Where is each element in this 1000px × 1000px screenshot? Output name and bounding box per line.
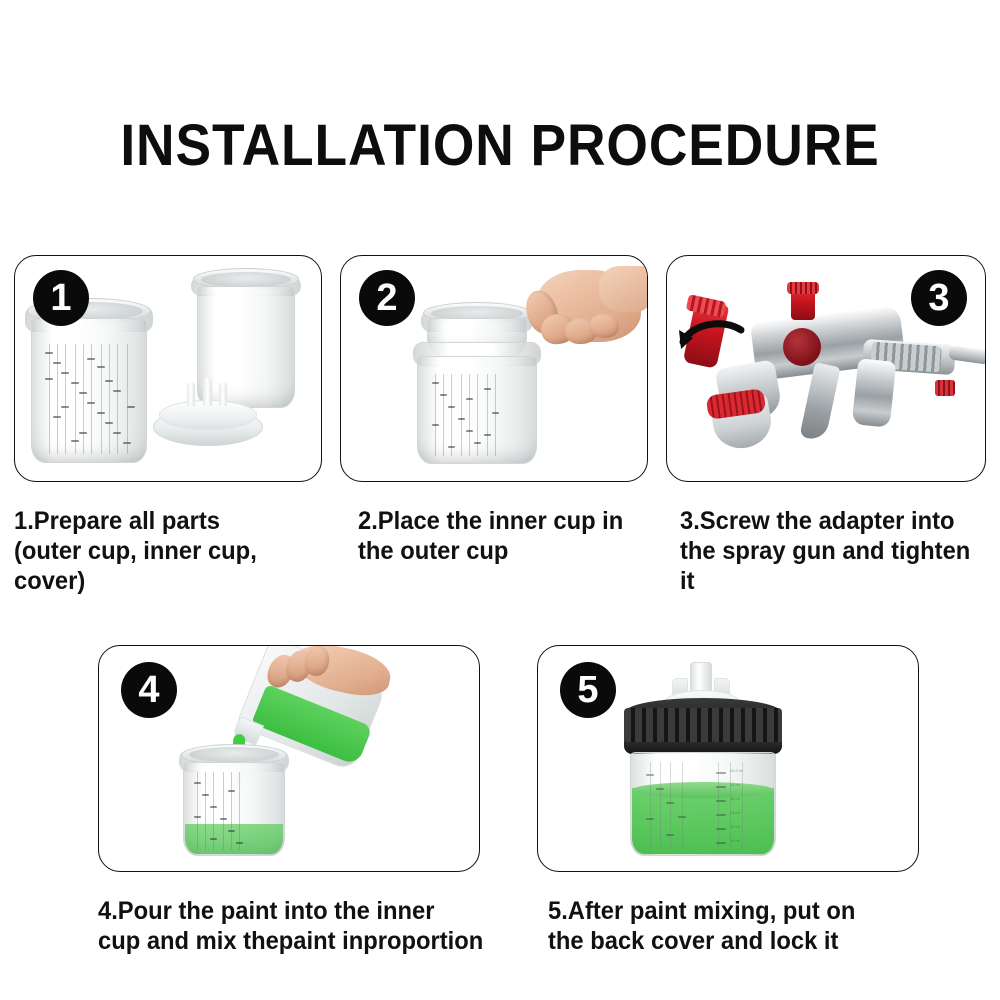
step-caption-4: 4.Pour the paint into the inner cup and …: [98, 896, 497, 956]
step-badge-4: 4: [121, 662, 177, 718]
step-panel-5: 28.3 ml 18 ml 16 ml 14 ml 12 ml 10 ml 5: [537, 645, 919, 872]
cup-graduations-5: 28.3 ml 18 ml 16 ml 14 ml 12 ml 10 ml: [642, 762, 762, 850]
cup-graduations-4: [191, 772, 251, 850]
step-caption-5: 5.After paint mixing, put on the back co…: [548, 896, 919, 956]
step-panel-2: 2: [340, 255, 648, 482]
cup-graduations-2: [429, 374, 501, 456]
step-badge-1: 1: [33, 270, 89, 326]
cup-graduations-1: [41, 344, 137, 454]
rotation-arrow-icon: [677, 308, 749, 360]
step-caption-2: 2.Place the inner cup in the outer cup: [358, 506, 643, 566]
infographic-page: INSTALLATION PROCEDURE: [0, 0, 1000, 1000]
step-badge-5: 5: [560, 662, 616, 718]
page-title: INSTALLATION PROCEDURE: [40, 112, 960, 179]
step-caption-1: 1.Prepare all parts (outer cup, inner cu…: [14, 506, 328, 596]
step-caption-3: 3.Screw the adapter into the spray gun a…: [680, 506, 984, 596]
step-badge-3: 3: [911, 270, 967, 326]
step-panel-4: 4: [98, 645, 480, 872]
step-panel-1: 1: [14, 255, 322, 482]
step-badge-2: 2: [359, 270, 415, 326]
step-panel-3: 3: [666, 255, 986, 482]
